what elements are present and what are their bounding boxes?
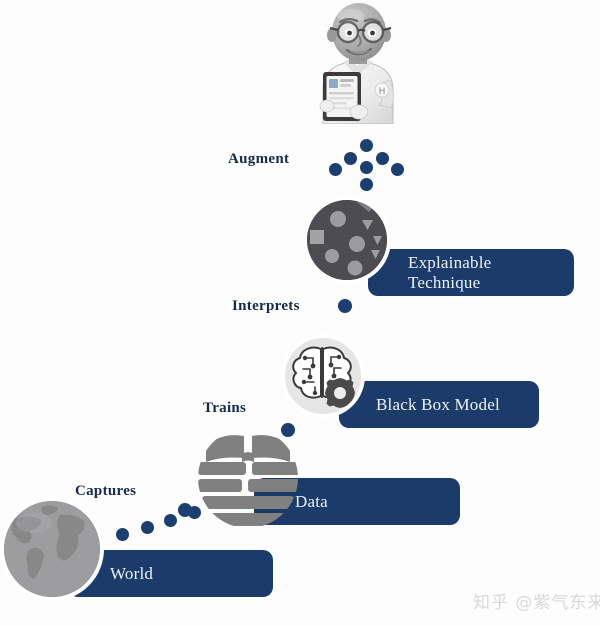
connector-dot bbox=[376, 152, 389, 165]
bar-label-explainable-technique: Explainable Technique bbox=[408, 253, 491, 292]
bar-explainable-technique[interactable]: Explainable Technique bbox=[368, 249, 574, 296]
connector-dot bbox=[344, 152, 357, 165]
brain-gear-icon bbox=[281, 334, 365, 418]
step-verb-trains: Trains bbox=[203, 400, 246, 417]
step-verb-captures: Captures bbox=[75, 483, 136, 500]
step-verb-interprets: Interprets bbox=[232, 298, 300, 315]
globe-icon bbox=[0, 497, 104, 601]
connector-dot bbox=[360, 139, 373, 152]
watermark-text: 知乎 @紫气东来 bbox=[473, 588, 600, 613]
connector-dot bbox=[116, 528, 129, 541]
bar-label-world: World bbox=[110, 564, 153, 583]
bar-label-black-box-model: Black Box Model bbox=[376, 395, 500, 414]
step-verb-augment: Augment bbox=[228, 151, 289, 168]
scientist-with-tablet-icon: H bbox=[297, 2, 407, 124]
connector-dot bbox=[391, 163, 404, 176]
connector-dot bbox=[360, 178, 373, 191]
svg-text:H: H bbox=[379, 87, 386, 97]
connector-dot bbox=[338, 299, 352, 313]
connector-dot bbox=[141, 521, 154, 534]
connector-dot bbox=[360, 161, 373, 174]
server-data-icon bbox=[196, 426, 300, 530]
connector-dot bbox=[164, 514, 177, 527]
connector-dot bbox=[329, 163, 342, 176]
infographic-canvas: H Augment Explainable Technique Interpre bbox=[0, 0, 600, 626]
bar-black-box-model[interactable]: Black Box Model bbox=[339, 381, 539, 428]
connector-dot bbox=[188, 506, 201, 519]
explainable-shapes-icon bbox=[303, 196, 391, 284]
